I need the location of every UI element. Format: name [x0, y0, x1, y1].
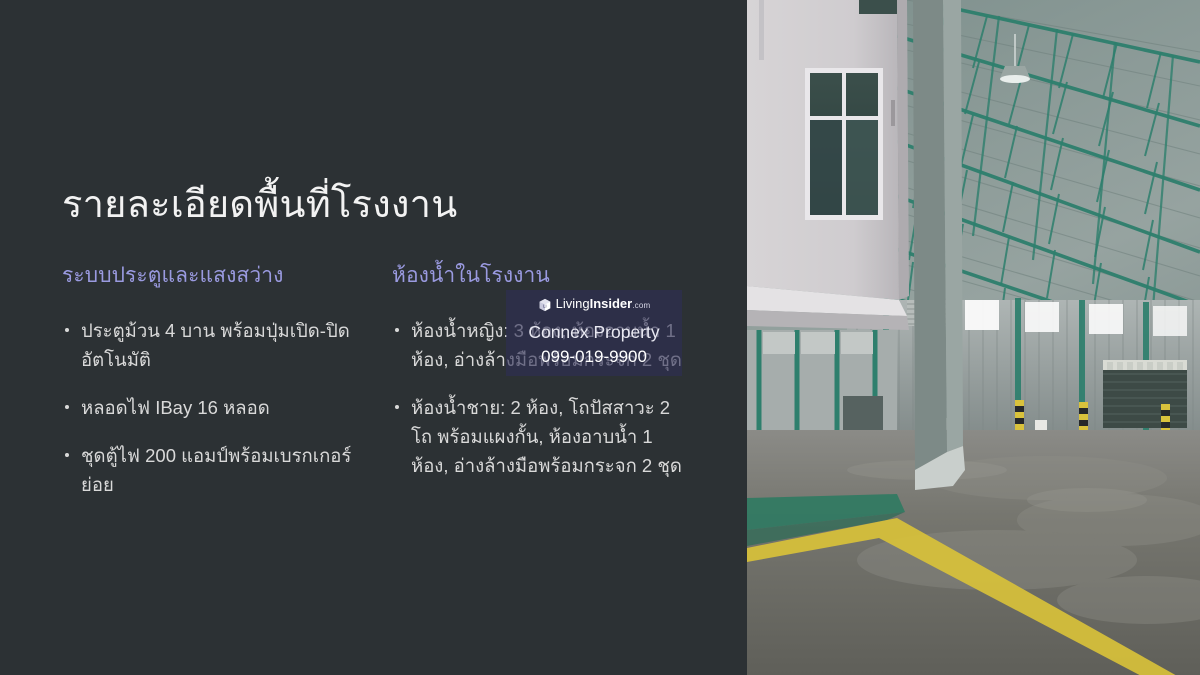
columns-container: ระบบประตูและแสงสว่าง ประตูม้วน 4 บาน พร้… — [62, 262, 722, 499]
bullet-list-restrooms: ห้องน้ำหญิง: 3 ห้อง, ห้องอาบน้ำ 1 ห้อง, … — [392, 316, 722, 480]
page-title: รายละเอียดพื้นที่โรงงาน — [62, 181, 457, 229]
foreground-column — [913, 0, 965, 490]
list-item: ห้องน้ำชาย: 2 ห้อง, โถปัสสาวะ 2 โถ พร้อม… — [392, 393, 692, 480]
column-restrooms: ห้องน้ำในโรงงาน ห้องน้ำหญิง: 3 ห้อง, ห้อ… — [392, 262, 722, 499]
bullet-list-doors-lighting: ประตูม้วน 4 บาน พร้อมปุ่มเปิด-ปิดอัตโนมั… — [62, 316, 392, 499]
column-heading-doors-lighting: ระบบประตูและแสงสว่าง — [62, 262, 392, 290]
column-doors-lighting: ระบบประตูและแสงสว่าง ประตูม้วน 4 บาน พร้… — [62, 262, 392, 499]
warehouse-interior-photo — [747, 0, 1200, 675]
office-block — [747, 0, 909, 330]
list-item: ห้องน้ำหญิง: 3 ห้อง, ห้องอาบน้ำ 1 ห้อง, … — [392, 316, 692, 374]
column-heading-restrooms: ห้องน้ำในโรงงาน — [392, 262, 722, 290]
content-panel: รายละเอียดพื้นที่โรงงาน ระบบประตูและแสงส… — [0, 0, 747, 675]
list-item: ประตูม้วน 4 บาน พร้อมปุ่มเปิด-ปิดอัตโนมั… — [62, 316, 362, 374]
slide-root: รายละเอียดพื้นที่โรงงาน ระบบประตูและแสงส… — [0, 0, 1200, 675]
list-item: ชุดตู้ไฟ 200 แอมป์พร้อมเบรกเกอร์ย่อย — [62, 441, 362, 499]
list-item: หลอดไฟ IBay 16 หลอด — [62, 393, 362, 422]
